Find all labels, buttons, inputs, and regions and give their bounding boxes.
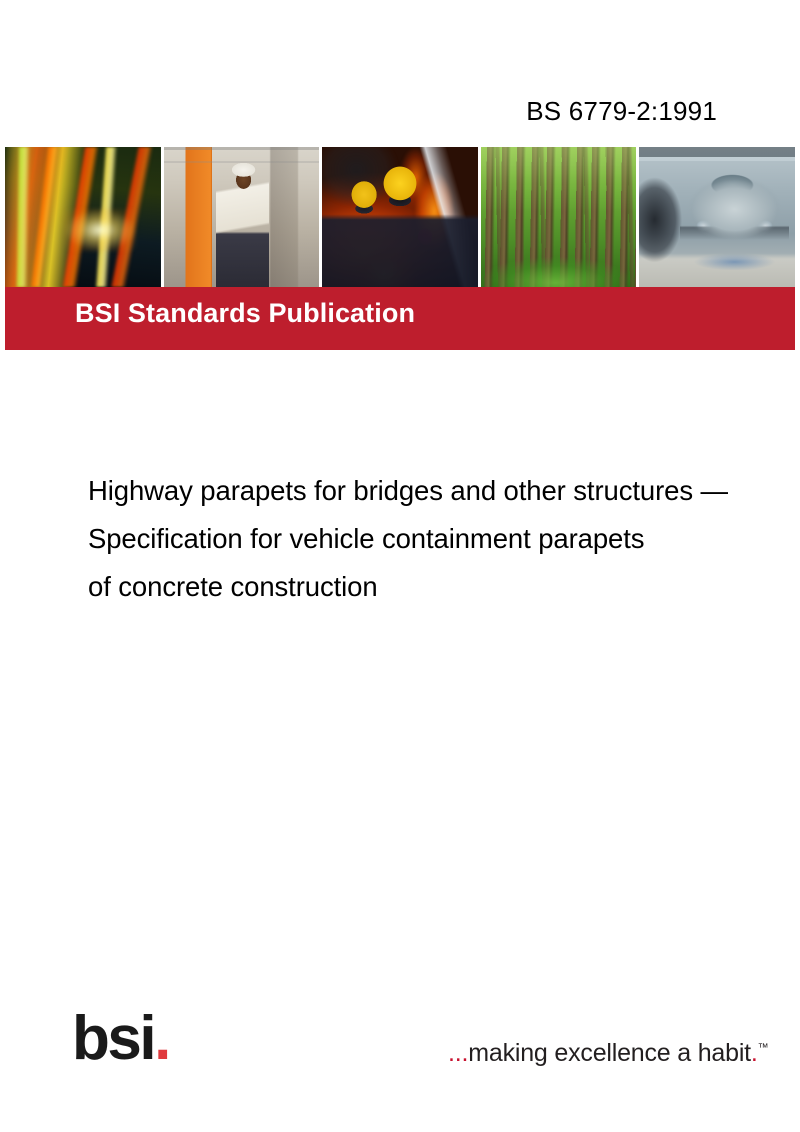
photo-firefighters [322,147,478,287]
title-line-1: Highway parapets for bridges and other s… [88,467,800,515]
cover-banner: BSI Standards Publication [5,147,795,350]
bsi-tagline: ...making excellence a habit.™ [448,1039,769,1068]
standard-number: BS 6779-2:1991 [0,96,717,127]
photo-strip [5,147,795,287]
tagline-text: making excellence a habit [468,1039,751,1067]
title-line-3: of concrete construction [88,563,800,611]
photo-forest [481,147,637,287]
photo-car-production-line [639,147,795,287]
title-line-2: Specification for vehicle containment pa… [88,515,800,563]
photo-warehouse-worker [164,147,320,287]
publisher-band-label: BSI Standards Publication [75,298,415,329]
bsi-logo-wordmark: bsi [72,1004,154,1073]
page-title: Highway parapets for bridges and other s… [88,467,800,611]
trademark-icon: ™ [758,1042,769,1054]
bsi-logo: bsi. [72,1008,169,1070]
tagline-end-dot: . [751,1039,758,1067]
tagline-leading-ellipsis: ... [448,1039,468,1067]
bsi-logo-dot-icon: . [154,1004,169,1073]
photo-traffic-light-trails [5,147,161,287]
